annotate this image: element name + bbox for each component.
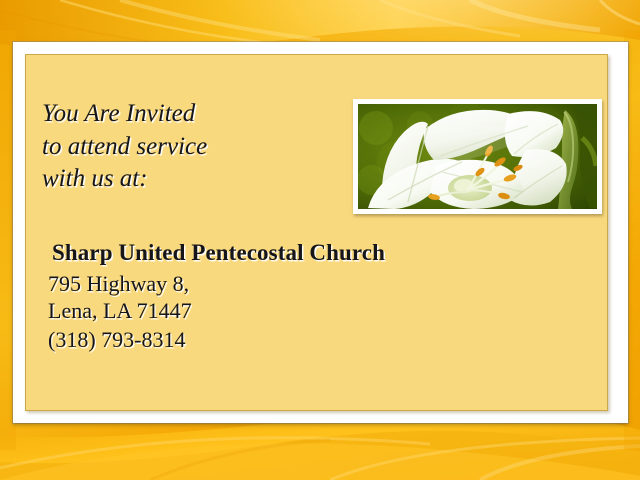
- invitation-heading: You Are Invited to attend service with u…: [42, 98, 332, 196]
- church-phone: (318) 793-8314: [48, 327, 185, 353]
- church-name: Sharp United Pentecostal Church: [52, 240, 385, 266]
- slide-canvas: You Are Invited to attend service with u…: [0, 0, 640, 480]
- lily-photo-frame: [353, 99, 602, 214]
- white-easter-lily-photo: [358, 104, 597, 209]
- church-address: 795 Highway 8, Lena, LA 71447: [48, 271, 192, 325]
